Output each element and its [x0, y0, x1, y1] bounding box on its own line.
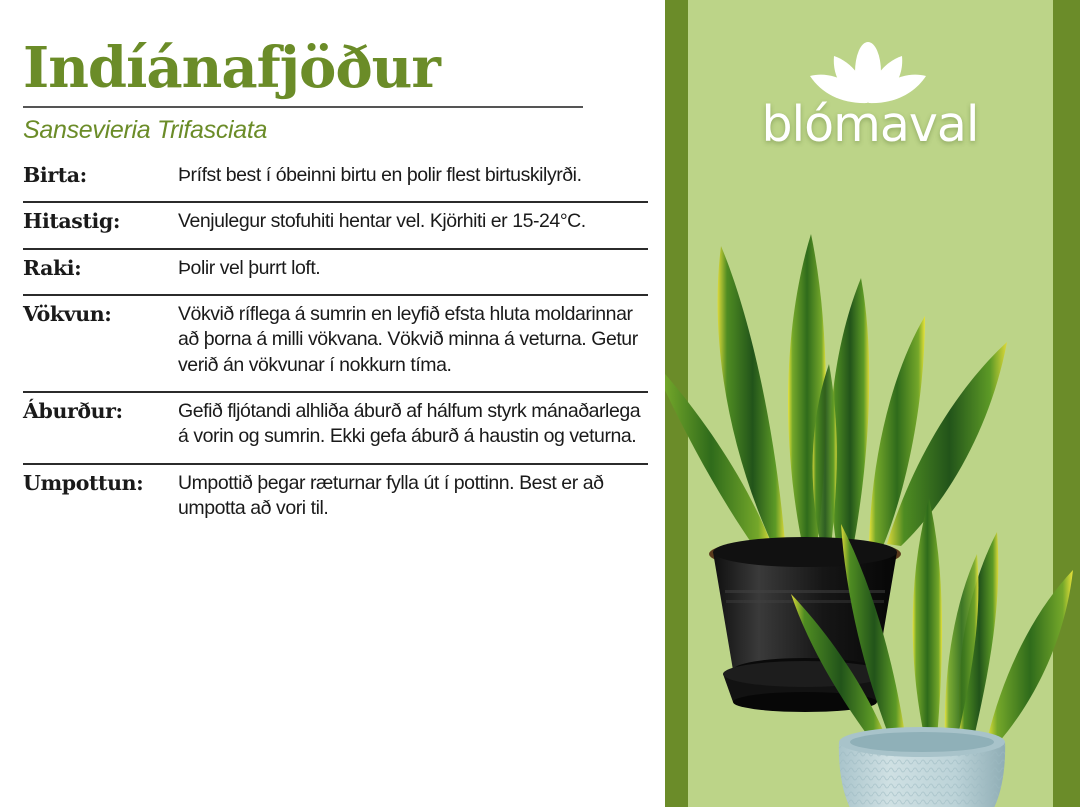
spec-label-umpottun: Umpottun:	[23, 464, 178, 535]
title-divider	[23, 106, 583, 108]
spec-label-birta: Birta:	[23, 161, 178, 202]
brand-image-panel: blómaval	[665, 0, 1080, 807]
spec-value-hitastig: Venjulegur stofuhiti hentar vel. Kjörhit…	[178, 202, 648, 248]
spec-value-raki: Þolir vel þurrt loft.	[178, 249, 648, 295]
info-column: Indíánafjöður Sansevieria Trifasciata Bi…	[0, 0, 665, 807]
snake-plant-photo	[665, 150, 1080, 807]
brand-name: blómaval	[720, 96, 1020, 153]
latin-name-subtitle: Sansevieria Trifasciata	[23, 116, 645, 145]
table-row: Birta: Þrífst best í óbeinni birtu en þo…	[23, 161, 648, 202]
table-row: Raki: Þolir vel þurrt loft.	[23, 249, 648, 295]
table-row: Áburður: Gefið fljótandi alhliða áburð a…	[23, 392, 648, 464]
care-spec-table: Birta: Þrífst best í óbeinni birtu en þo…	[23, 161, 648, 534]
snake-plant-illustration	[665, 150, 1080, 807]
spec-value-birta: Þrífst best í óbeinni birtu en þolir fle…	[178, 161, 648, 202]
spec-value-aburdur: Gefið fljótandi alhliða áburð af hálfum …	[178, 392, 648, 464]
table-row: Hitastig: Venjulegur stofuhiti hentar ve…	[23, 202, 648, 248]
spec-value-umpottun: Umpottið þegar ræturnar fylla út í potti…	[178, 464, 648, 535]
brand-logo: blómaval	[720, 42, 1020, 167]
spec-label-vokvun: Vökvun:	[23, 295, 178, 392]
table-row: Umpottun: Umpottið þegar ræturnar fylla …	[23, 464, 648, 535]
spec-label-aburdur: Áburður:	[23, 392, 178, 464]
spec-label-raki: Raki:	[23, 249, 178, 295]
back-plant-leaves	[665, 234, 1007, 548]
spec-value-vokvun: Vökvið ríflega á sumrin en leyfið efsta …	[178, 295, 648, 392]
blue-textured-ceramic-pot	[839, 727, 1005, 807]
plant-care-card: Indíánafjöður Sansevieria Trifasciata Bi…	[0, 0, 1080, 807]
page-title: Indíánafjöður	[23, 40, 645, 96]
spec-label-hitastig: Hitastig:	[23, 202, 178, 248]
lotus-flower-icon	[808, 42, 928, 104]
table-row: Vökvun: Vökvið ríflega á sumrin en leyfi…	[23, 295, 648, 392]
